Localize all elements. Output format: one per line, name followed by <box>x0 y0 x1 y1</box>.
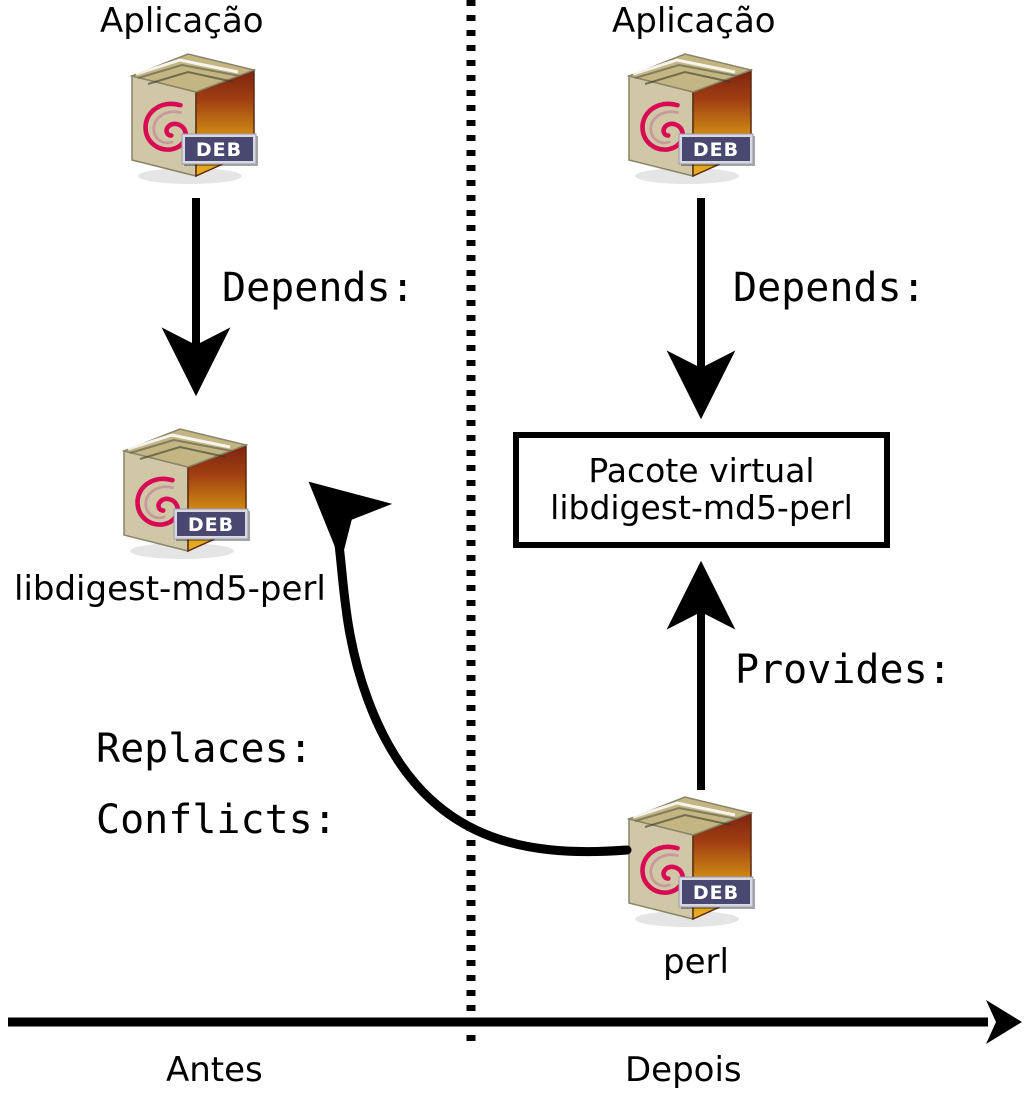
debian-package-relations-diagram: DEB Aplicação Aplicação Depend <box>0 0 1024 1094</box>
virtual-package-line1: Pacote virtual <box>588 453 814 490</box>
virtual-package-line2: libdigest-md5-perl <box>550 490 853 527</box>
after-provider-package-icon <box>629 797 755 927</box>
replaces-label: Replaces: <box>96 729 313 769</box>
after-app-label: Aplicação <box>612 4 776 38</box>
timeline-before-label: Antes <box>166 1053 263 1087</box>
timeline-arrowhead <box>986 1000 1022 1044</box>
after-depends-label: Depends: <box>733 268 926 308</box>
provider-package-label: perl <box>663 945 729 979</box>
timeline-after-label: Depois <box>625 1053 742 1087</box>
before-app-package-icon <box>132 54 258 184</box>
conflicts-label: Conflicts: <box>96 800 337 840</box>
before-target-package-icon <box>124 429 250 559</box>
after-app-package-icon <box>629 54 755 184</box>
before-depends-label: Depends: <box>222 268 415 308</box>
virtual-package-box: Pacote virtual libdigest-md5-perl <box>513 432 890 548</box>
before-app-label: Aplicação <box>100 4 264 38</box>
before-target-package-label: libdigest-md5-perl <box>14 572 326 606</box>
provides-label: Provides: <box>735 650 952 690</box>
